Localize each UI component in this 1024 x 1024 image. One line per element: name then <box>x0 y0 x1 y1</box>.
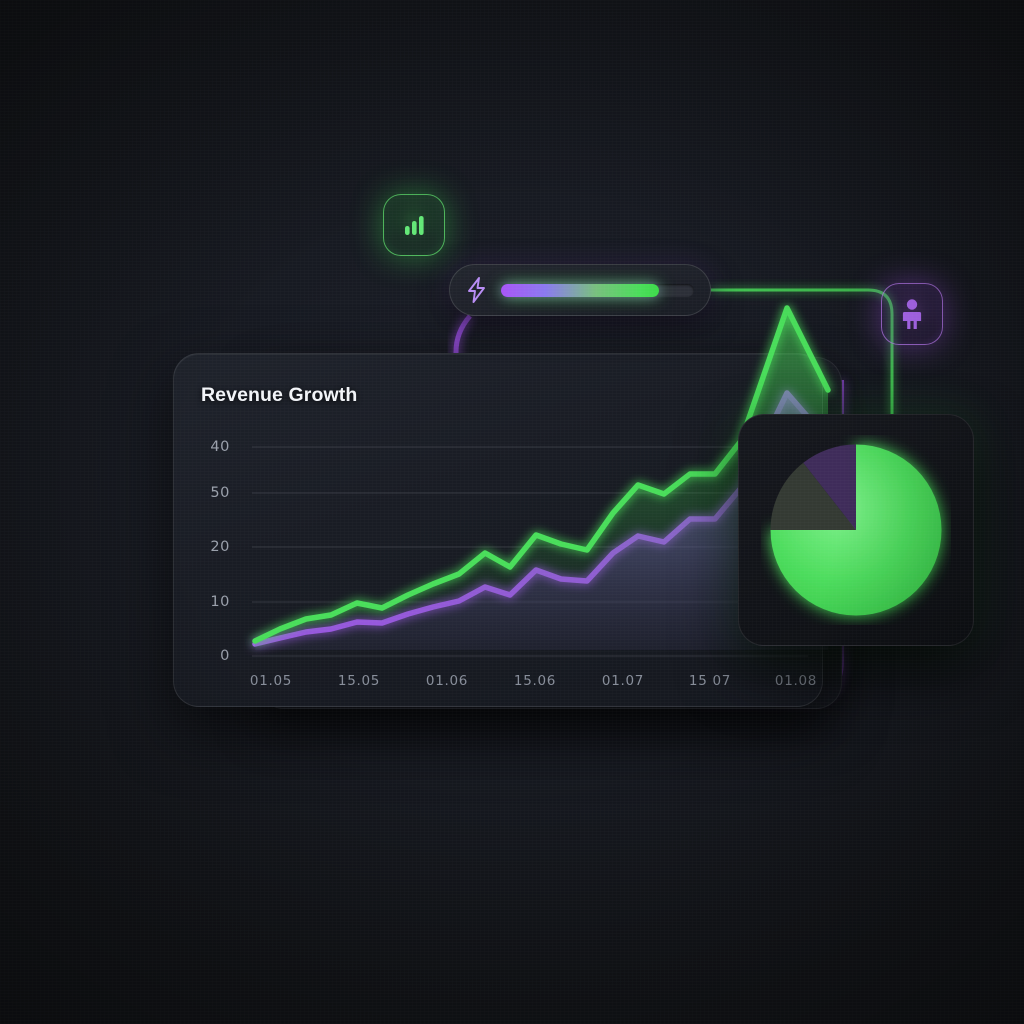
user-icon <box>899 298 925 330</box>
revenue-card-surface: 40 50 20 10 0 01.05 15.05 01.06 15.06 01… <box>174 354 822 706</box>
dashboard-canvas: 40 50 20 10 0 01.05 15.05 01.06 15.06 01… <box>0 0 1024 1024</box>
progress-widget[interactable] <box>449 264 711 316</box>
x-tick-label: 15 07 <box>670 673 750 689</box>
y-tick-label: 10 <box>184 594 230 610</box>
x-tick-label: 01.07 <box>583 673 663 689</box>
bar-chart-icon <box>400 211 428 239</box>
pie-chart-card[interactable] <box>738 414 974 646</box>
revenue-growth-card[interactable]: 40 50 20 10 0 01.05 15.05 01.06 15.06 01… <box>173 353 823 707</box>
y-tick-label: 40 <box>184 439 230 455</box>
user-badge[interactable] <box>881 283 943 345</box>
y-tick-label: 50 <box>184 485 230 501</box>
y-tick-label: 0 <box>184 648 230 664</box>
page-title: Revenue Growth <box>201 384 357 407</box>
progress-track[interactable] <box>501 284 694 297</box>
pie-chart <box>761 435 951 625</box>
y-tick-label: 20 <box>184 539 230 555</box>
progress-fill <box>501 284 659 297</box>
x-tick-label: 15.06 <box>495 673 575 689</box>
x-tick-label: 01.06 <box>407 673 487 689</box>
lightning-bolt-icon <box>466 277 488 303</box>
x-tick-label: 15.05 <box>319 673 399 689</box>
x-tick-label: 01.05 <box>231 673 311 689</box>
bar-chart-badge[interactable] <box>383 194 445 256</box>
x-tick-label: 01.08 <box>756 673 822 689</box>
